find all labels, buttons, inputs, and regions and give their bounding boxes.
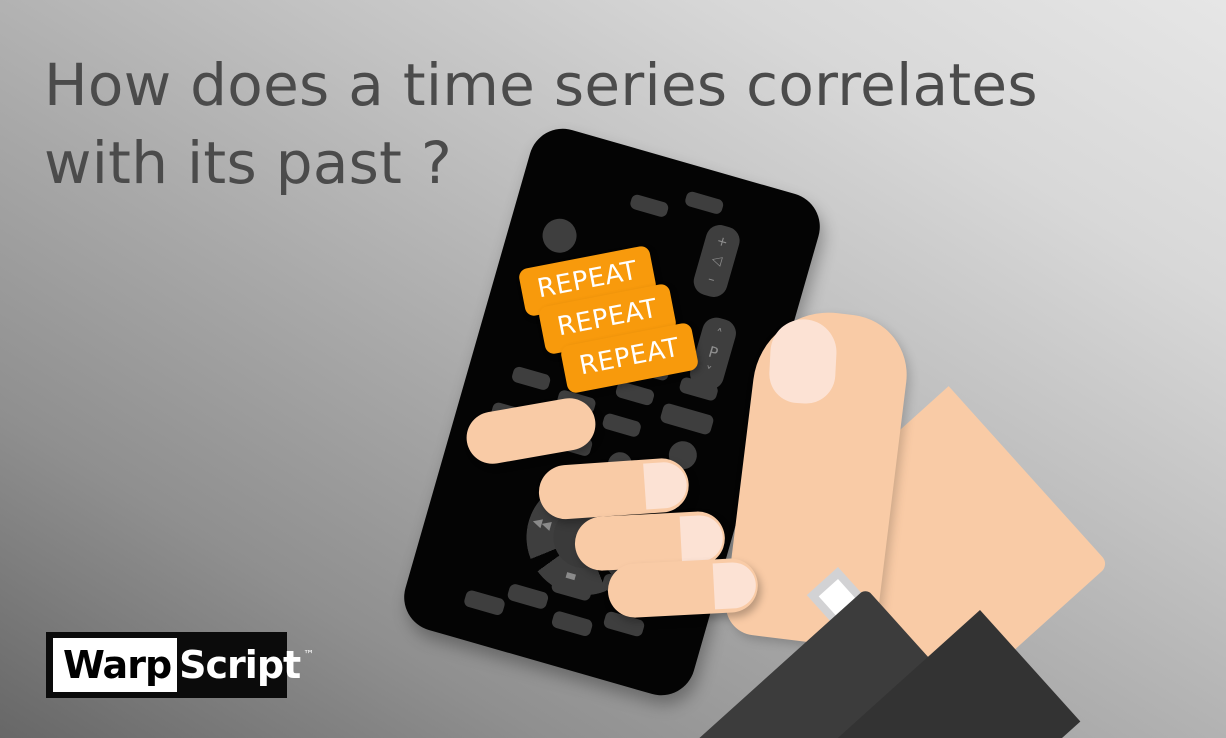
finger-pinky bbox=[607, 557, 760, 619]
thumbnail bbox=[768, 318, 838, 405]
fingernail bbox=[643, 461, 688, 510]
fingernail bbox=[680, 514, 724, 562]
slide-canvas: How does a time series correlates with i… bbox=[0, 0, 1226, 738]
logo-warp-text: Warp bbox=[53, 638, 177, 692]
finger-middle bbox=[537, 457, 690, 521]
logo-script-text: Script bbox=[177, 638, 302, 692]
warpscript-logo: Warp Script ™ bbox=[46, 632, 287, 698]
index-finger bbox=[462, 394, 599, 468]
trademark-symbol: ™ bbox=[303, 648, 314, 661]
hand-holding-remote bbox=[0, 0, 1226, 738]
fingernail bbox=[713, 561, 757, 609]
